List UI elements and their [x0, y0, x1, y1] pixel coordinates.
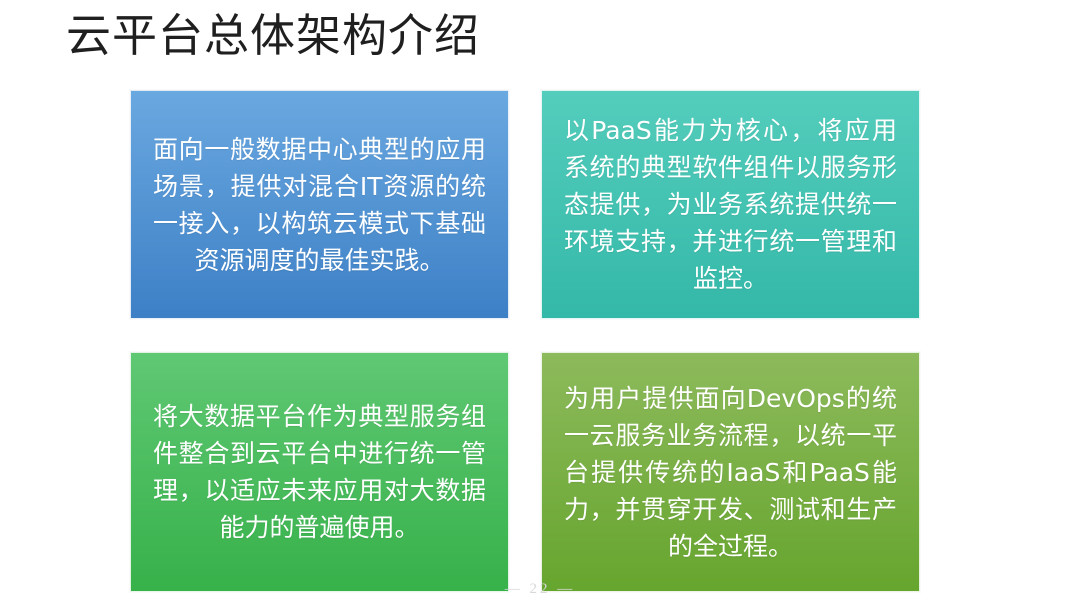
card-text: 将大数据平台作为典型服务组件整合到云平台中进行统一管理，以适应未来应用对大数据能… — [131, 398, 508, 546]
card-bigdata-platform[interactable]: 将大数据平台作为典型服务组件整合到云平台中进行统一管理，以适应未来应用对大数据能… — [130, 352, 509, 592]
card-text: 以PaaS能力为核心，将应用系统的典型软件组件以服务形态提供，为业务系统提供统一… — [542, 112, 919, 297]
page-title: 云平台总体架构介绍 — [66, 6, 480, 66]
card-grid: 面向一般数据中心典型的应用场景，提供对混合IT资源的统一接入，以构筑云模式下基础… — [130, 90, 920, 598]
card-text: 面向一般数据中心典型的应用场景，提供对混合IT资源的统一接入，以构筑云模式下基础… — [131, 131, 508, 279]
slide-canvas: 云平台总体架构介绍 面向一般数据中心典型的应用场景，提供对混合IT资源的统一接入… — [0, 0, 1080, 608]
card-iaas-scenario[interactable]: 面向一般数据中心典型的应用场景，提供对混合IT资源的统一接入，以构筑云模式下基础… — [130, 90, 509, 319]
page-number: — 22 — — [0, 581, 1080, 598]
card-text: 为用户提供面向DevOps的统一云服务业务流程，以统一平台提供传统的IaaS和P… — [542, 380, 919, 565]
card-paas-core[interactable]: 以PaaS能力为核心，将应用系统的典型软件组件以服务形态提供，为业务系统提供统一… — [541, 90, 920, 319]
card-devops-flow[interactable]: 为用户提供面向DevOps的统一云服务业务流程，以统一平台提供传统的IaaS和P… — [541, 352, 920, 592]
